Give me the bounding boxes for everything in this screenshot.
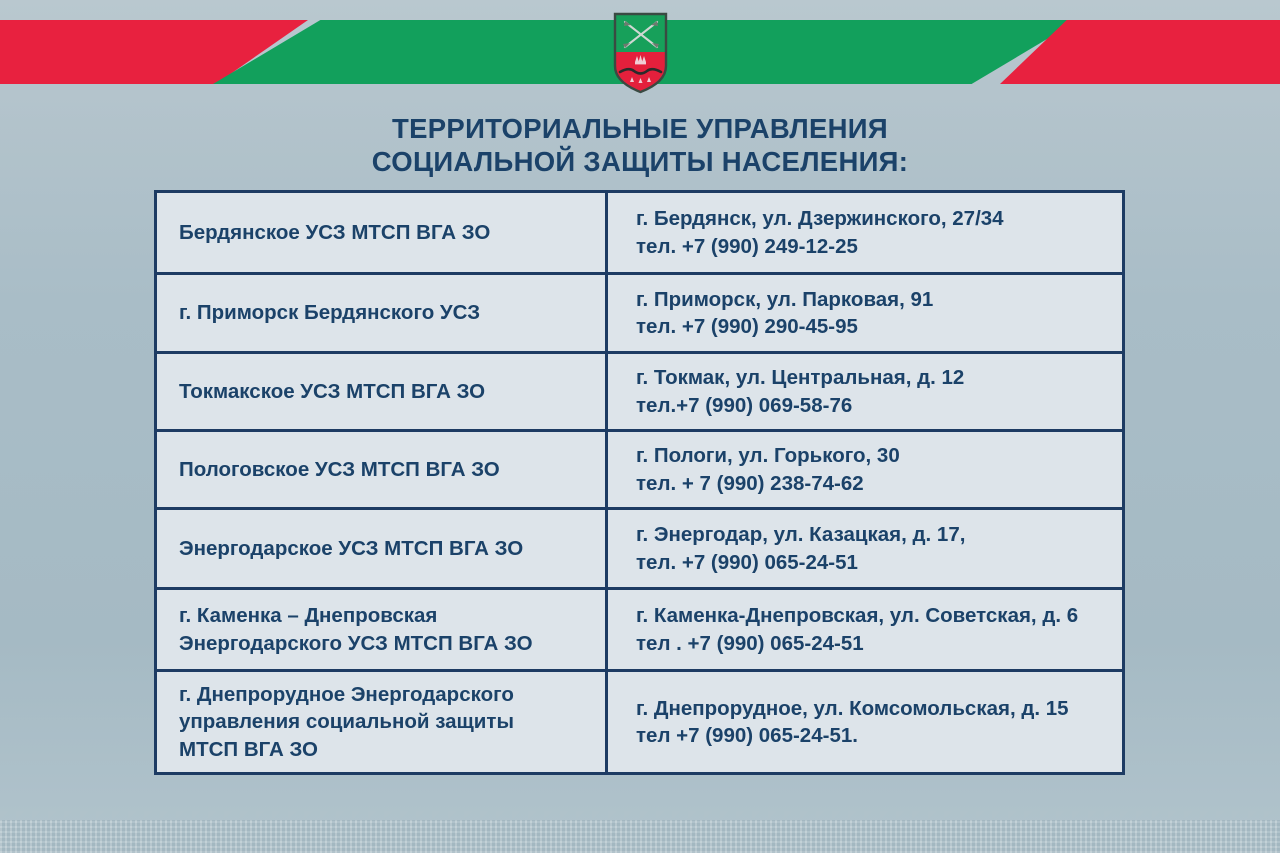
office-phone: тел. +7 (990) 249-12-25 xyxy=(636,233,1004,260)
header-ribbon xyxy=(0,0,1280,104)
office-phone: тел +7 (990) 065-24-51. xyxy=(636,722,1069,749)
table-row: Пологовское УСЗ МТСП ВГА ЗО г. Пологи, у… xyxy=(157,432,1122,510)
office-name-line: МТСП ВГА ЗО xyxy=(179,736,514,763)
footer-ornament-teeth xyxy=(0,811,1280,820)
office-name-cell: г. Днепрорудное Энергодарского управлени… xyxy=(157,672,608,772)
office-name-cell: Токмакское УСЗ МТСП ВГА ЗО xyxy=(157,354,608,429)
office-contact-cell: г. Энергодар, ул. Казацкая, д. 17, тел. … xyxy=(608,510,1122,587)
table-row: г. Каменка – Днепровская Энергодарского … xyxy=(157,590,1122,672)
office-name-cell: Энергодарское УСЗ МТСП ВГА ЗО xyxy=(157,510,608,587)
office-name-line: Энергодарского УСЗ МТСП ВГА ЗО xyxy=(179,630,533,657)
office-contact-cell: г. Днепрорудное, ул. Комсомольская, д. 1… xyxy=(608,672,1122,772)
office-address: г. Бердянск, ул. Дзержинского, 27/34 xyxy=(636,205,1004,232)
table-row: Токмакское УСЗ МТСП ВГА ЗО г. Токмак, ул… xyxy=(157,354,1122,432)
office-name-cell: Бердянское УСЗ МТСП ВГА ЗО xyxy=(157,193,608,272)
office-address: г. Днепрорудное, ул. Комсомольская, д. 1… xyxy=(636,695,1069,722)
office-address: г. Энергодар, ул. Казацкая, д. 17, xyxy=(636,521,965,548)
office-name-line: г. Приморск Бердянского УСЗ xyxy=(179,299,480,326)
office-name-cell: г. Приморск Бердянского УСЗ xyxy=(157,275,608,351)
table-row: Бердянское УСЗ МТСП ВГА ЗО г. Бердянск, … xyxy=(157,193,1122,275)
table-row: г. Приморск Бердянского УСЗ г. Приморск,… xyxy=(157,275,1122,354)
page-title-line-2: СОЦИАЛЬНОЙ ЗАЩИТЫ НАСЕЛЕНИЯ: xyxy=(0,145,1280,178)
office-name-line: Бердянское УСЗ МТСП ВГА ЗО xyxy=(179,219,490,246)
office-name-line: г. Днепрорудное Энергодарского xyxy=(179,681,514,708)
table-row: Энергодарское УСЗ МТСП ВГА ЗО г. Энергод… xyxy=(157,510,1122,590)
page-title: ТЕРРИТОРИАЛЬНЫЕ УПРАВЛЕНИЯ СОЦИАЛЬНОЙ ЗА… xyxy=(0,112,1280,179)
office-phone: тел. +7 (990) 290-45-95 xyxy=(636,313,933,340)
poster-canvas: ТЕРРИТОРИАЛЬНЫЕ УПРАВЛЕНИЯ СОЦИАЛЬНОЙ ЗА… xyxy=(0,0,1280,853)
office-phone: тел.+7 (990) 069-58-76 xyxy=(636,392,964,419)
offices-table: Бердянское УСЗ МТСП ВГА ЗО г. Бердянск, … xyxy=(154,190,1125,775)
office-address: г. Пологи, ул. Горького, 30 xyxy=(636,442,900,469)
coat-of-arms-icon xyxy=(612,12,669,94)
office-phone: тел. +7 (990) 065-24-51 xyxy=(636,549,965,576)
office-address: г. Токмак, ул. Центральная, д. 12 xyxy=(636,364,964,391)
office-contact-cell: г. Приморск, ул. Парковая, 91 тел. +7 (9… xyxy=(608,275,1122,351)
office-contact-cell: г. Токмак, ул. Центральная, д. 12 тел.+7… xyxy=(608,354,1122,429)
office-address: г. Приморск, ул. Парковая, 91 xyxy=(636,286,933,313)
footer-ornament-band xyxy=(0,820,1280,853)
office-name-line: Токмакское УСЗ МТСП ВГА ЗО xyxy=(179,378,485,405)
office-phone: тел. + 7 (990) 238-74-62 xyxy=(636,470,900,497)
office-contact-cell: г. Бердянск, ул. Дзержинского, 27/34 тел… xyxy=(608,193,1122,272)
office-phone: тел . +7 (990) 065-24-51 xyxy=(636,630,1078,657)
office-address: г. Каменка-Днепровская, ул. Советская, д… xyxy=(636,602,1078,629)
office-name-line: Энергодарское УСЗ МТСП ВГА ЗО xyxy=(179,535,523,562)
office-name-cell: Пологовское УСЗ МТСП ВГА ЗО xyxy=(157,432,608,507)
office-name-line: управления социальной защиты xyxy=(179,708,514,735)
office-name-cell: г. Каменка – Днепровская Энергодарского … xyxy=(157,590,608,669)
office-contact-cell: г. Каменка-Днепровская, ул. Советская, д… xyxy=(608,590,1122,669)
office-contact-cell: г. Пологи, ул. Горького, 30 тел. + 7 (99… xyxy=(608,432,1122,507)
table-row: г. Днепрорудное Энергодарского управлени… xyxy=(157,672,1122,772)
page-title-line-1: ТЕРРИТОРИАЛЬНЫЕ УПРАВЛЕНИЯ xyxy=(0,112,1280,145)
office-name-line: Пологовское УСЗ МТСП ВГА ЗО xyxy=(179,456,500,483)
office-name-line: г. Каменка – Днепровская xyxy=(179,602,533,629)
